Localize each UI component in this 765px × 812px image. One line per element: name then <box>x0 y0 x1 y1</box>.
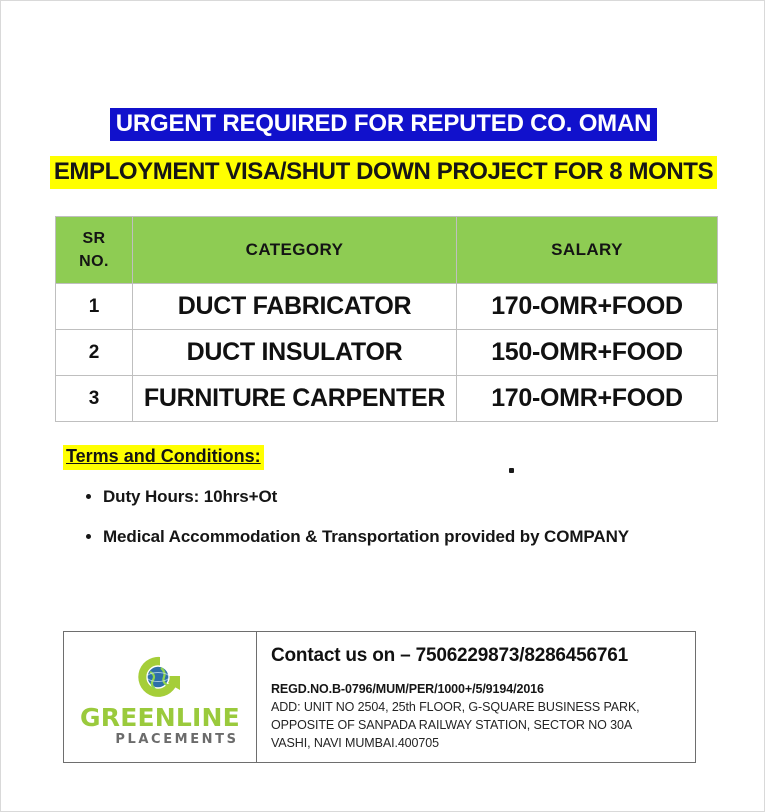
headline-secondary-row: EMPLOYMENT VISA/SHUT DOWN PROJECT FOR 8 … <box>1 156 765 189</box>
stray-dot-artifact <box>509 468 514 473</box>
contact-box: GREENLINE PLACEMENTS Contact us on – 750… <box>63 631 696 763</box>
column-header-category: CATEGORY <box>133 217 457 284</box>
table-row: 1 DUCT FABRICATOR 170-OMR+FOOD <box>56 284 718 330</box>
sr-no-line-1: SR <box>56 227 132 250</box>
cell-salary: 170-OMR+FOOD <box>457 284 718 330</box>
contact-phone-heading: Contact us on – 7506229873/8286456761 <box>271 645 685 668</box>
table-row: 2 DUCT INSULATOR 150-OMR+FOOD <box>56 330 718 376</box>
cell-category: DUCT FABRICATOR <box>133 284 457 330</box>
cell-salary: 170-OMR+FOOD <box>457 376 718 422</box>
logo-pane: GREENLINE PLACEMENTS <box>64 632 257 762</box>
table-header-row: SR NO. CATEGORY SALARY <box>56 217 718 284</box>
registration-number: REGD.NO.B-0796/MUM/PER/1000+/5/9194/2016 <box>271 681 685 697</box>
terms-and-conditions-title: Terms and Conditions: <box>63 445 264 470</box>
cell-sr-no: 3 <box>56 376 133 422</box>
table-row: 3 FURNITURE CARPENTER 170-OMR+FOOD <box>56 376 718 422</box>
contact-details-pane: Contact us on – 7506229873/8286456761 RE… <box>257 632 695 762</box>
company-address: ADD: UNIT NO 2504, 25th FLOOR, G-SQUARE … <box>271 699 671 752</box>
list-item: Duty Hours: 10hrs+Ot <box>103 483 693 511</box>
column-header-sr-no: SR NO. <box>56 217 133 284</box>
list-item: Medical Accommodation & Transportation p… <box>103 523 693 551</box>
column-header-salary: SALARY <box>457 217 718 284</box>
terms-list: Duty Hours: 10hrs+Ot Medical Accommodati… <box>71 483 693 562</box>
jobs-table-header: SR NO. CATEGORY SALARY <box>56 217 718 284</box>
cell-category: DUCT INSULATOR <box>133 330 457 376</box>
jobs-table-body: 1 DUCT FABRICATOR 170-OMR+FOOD 2 DUCT IN… <box>56 284 718 422</box>
logo-wordmark: GREENLINE <box>80 705 240 730</box>
headline-primary: URGENT REQUIRED FOR REPUTED CO. OMAN <box>110 108 657 141</box>
cell-sr-no: 1 <box>56 284 133 330</box>
cell-sr-no: 2 <box>56 330 133 376</box>
cell-salary: 150-OMR+FOOD <box>457 330 718 376</box>
jobs-table: SR NO. CATEGORY SALARY 1 DUCT FABRICATOR… <box>55 216 718 422</box>
headline-secondary: EMPLOYMENT VISA/SHUT DOWN PROJECT FOR 8 … <box>50 156 717 189</box>
logo-subwordmark: PLACEMENTS <box>115 733 238 746</box>
greenline-globe-logo-icon <box>132 652 188 704</box>
sr-no-line-2: NO. <box>56 250 132 273</box>
flyer-page: URGENT REQUIRED FOR REPUTED CO. OMAN EMP… <box>0 0 765 812</box>
cell-category: FURNITURE CARPENTER <box>133 376 457 422</box>
headline-primary-row: URGENT REQUIRED FOR REPUTED CO. OMAN <box>1 108 765 141</box>
